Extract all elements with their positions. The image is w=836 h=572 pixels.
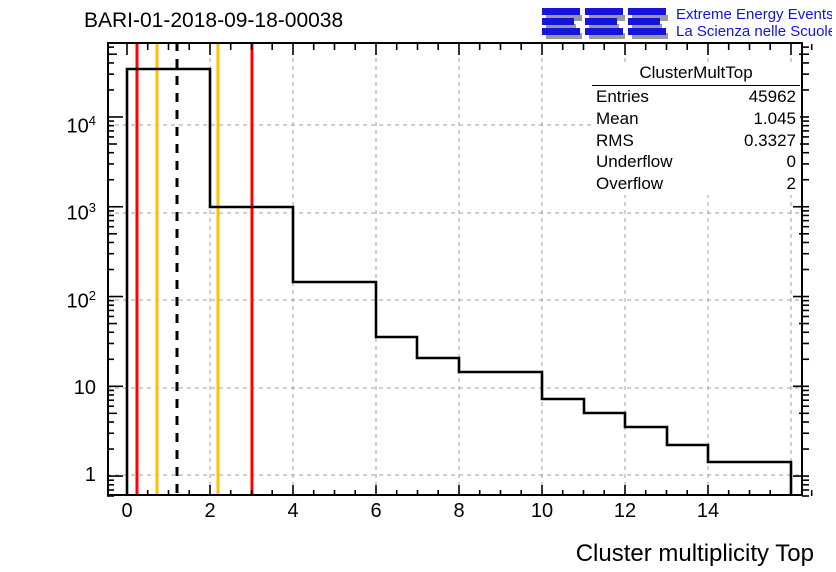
- stats-row-underflow: Underflow 0: [592, 151, 800, 173]
- y-tick-label-1e2: 102: [16, 288, 96, 314]
- y-tick-label-1: 1: [16, 464, 96, 487]
- eee-logo-line1: Extreme Energy Events: [676, 6, 832, 23]
- x-tick-label-10: 10: [522, 500, 562, 523]
- stats-box: ClusterMultTop Entries 45962 Mean 1.045 …: [592, 62, 800, 195]
- stats-label-entries: Entries: [596, 86, 649, 108]
- x-tick-label-0: 0: [107, 500, 147, 523]
- y-tick-label-1e3: 103: [16, 200, 96, 226]
- stats-value-rms: 0.3327: [744, 130, 796, 152]
- stats-label-mean: Mean: [596, 108, 639, 130]
- x-tick-label-12: 12: [605, 500, 645, 523]
- stats-row-mean: Mean 1.045: [592, 108, 800, 130]
- page-title: BARI-01-2018-09-18-00038: [84, 9, 343, 33]
- stats-value-mean: 1.045: [753, 108, 796, 130]
- stats-row-overflow: Overflow 2: [592, 173, 800, 195]
- y-tick-label-1e4: 104: [16, 113, 96, 139]
- root-canvas: BARI-01-2018-09-18-00038: [0, 0, 836, 572]
- x-tick-label-4: 4: [273, 500, 313, 523]
- x-tick-label-2: 2: [190, 500, 230, 523]
- x-tick-label-6: 6: [356, 500, 396, 523]
- x-tick-label-14: 14: [688, 500, 728, 523]
- stats-label-overflow: Overflow: [596, 173, 663, 195]
- eee-logo-mark: [542, 8, 666, 35]
- stats-value-underflow: 0: [787, 151, 796, 173]
- stats-box-title: ClusterMultTop: [592, 62, 800, 86]
- stats-row-rms: RMS 0.3327: [592, 130, 800, 152]
- y-tick-label-10: 10: [16, 377, 96, 400]
- x-axis-title: Cluster multiplicity Top: [576, 540, 814, 568]
- stats-label-rms: RMS: [596, 130, 634, 152]
- stats-value-entries: 45962: [749, 86, 796, 108]
- stats-label-underflow: Underflow: [596, 151, 673, 173]
- stats-row-entries: Entries 45962: [592, 86, 800, 108]
- stats-value-overflow: 2: [787, 173, 796, 195]
- x-tick-label-8: 8: [439, 500, 479, 523]
